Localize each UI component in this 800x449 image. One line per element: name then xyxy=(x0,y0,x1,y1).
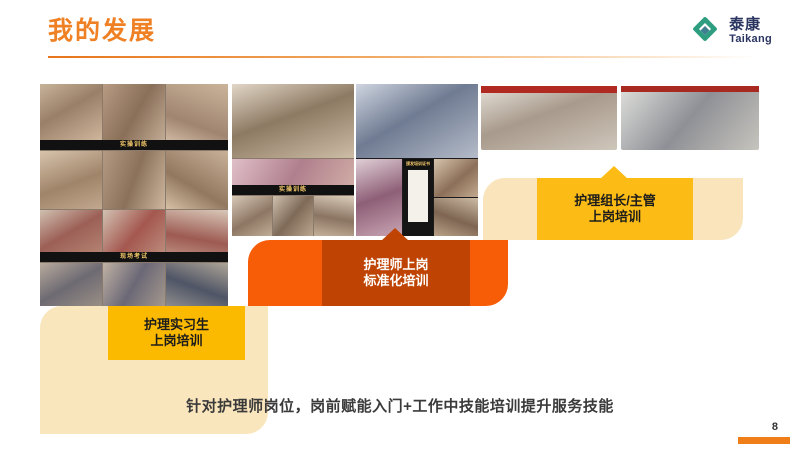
photo-group-leader-training xyxy=(481,84,759,152)
slide-caption: 针对护理师岗位，岗前赋能入门+工作中技能培训提升服务技能 xyxy=(0,395,800,416)
footer-accent-bar xyxy=(738,437,790,444)
photo-caption: 实操训练 xyxy=(40,140,228,150)
photo-caption: 颁发培训证书 xyxy=(403,159,433,169)
stage-label-line2: 上岗培训 xyxy=(589,209,641,225)
logo-en-text: Taikang xyxy=(729,34,772,45)
stage-label-line1: 护理实习生 xyxy=(144,317,209,333)
title-underline xyxy=(48,56,758,58)
photo-caption: 实操训练 xyxy=(232,185,354,195)
page-title: 我的发展 xyxy=(48,16,156,46)
stage-label-line2: 上岗培训 xyxy=(150,333,202,349)
photo-group-nursing-intern: 实操训练 现场考试 xyxy=(40,84,228,306)
stage-notch-icon xyxy=(600,166,628,179)
brand-logo: 泰康 Taikang xyxy=(692,16,772,46)
stage-label-line2: 标准化培训 xyxy=(363,273,428,289)
stage-chip: 护理组长/主管 上岗培训 xyxy=(537,178,693,240)
stage-chip: 护理实习生 上岗培训 xyxy=(108,306,245,360)
stage-label-line1: 护理组长/主管 xyxy=(574,193,656,209)
photo-group-nurse-standard: 实操训练 xyxy=(232,84,354,236)
stage-chip: 护理师上岗 标准化培训 xyxy=(322,240,470,306)
logo-cn-text: 泰康 xyxy=(729,17,772,32)
photo-caption: 现场考试 xyxy=(40,252,228,262)
stage-label-line1: 护理师上岗 xyxy=(363,257,428,273)
stage-notch-icon xyxy=(381,228,409,241)
photo-group-certificate: 颁发培训证书 xyxy=(356,84,478,236)
slide-root: 我的发展 泰康 Taikang 实操训练 现场考试 xyxy=(0,0,800,449)
taikang-diamond-icon xyxy=(692,16,722,46)
page-number: 8 xyxy=(772,421,778,433)
